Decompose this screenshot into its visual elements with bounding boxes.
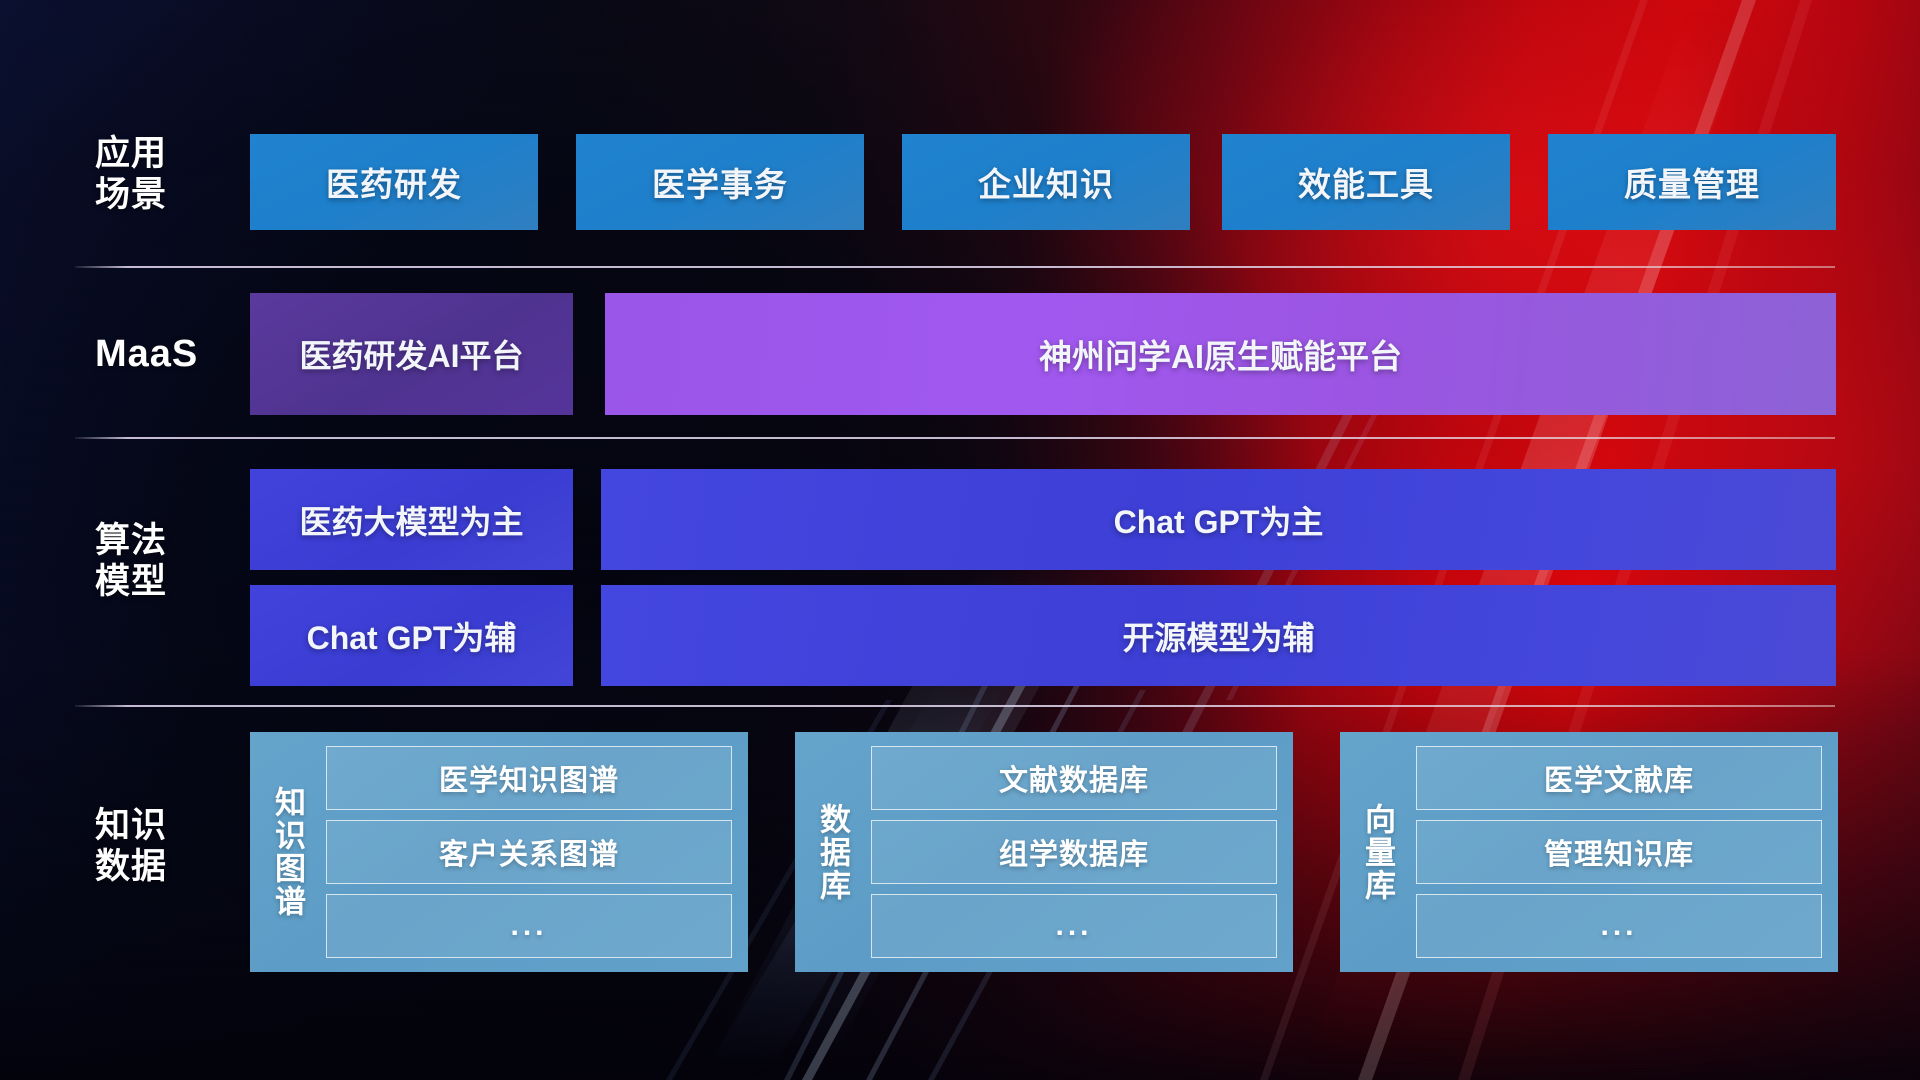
knowledge-group-items-database: 文献数据库 组学数据库 ... <box>871 746 1277 958</box>
app-scenario-box-5[interactable]: 质量管理 <box>1548 134 1836 230</box>
knowledge-item-more[interactable]: ... <box>326 894 732 958</box>
maas-platform-box-medical[interactable]: 医药研发AI平台 <box>250 293 573 415</box>
knowledge-group-label-graph: 知识图谱 <box>264 786 310 918</box>
knowledge-group-label-database: 数据库 <box>809 803 855 902</box>
algorithm-box-opensource-secondary[interactable]: 开源模型为辅 <box>601 585 1836 686</box>
knowledge-group-panel-database[interactable]: 数据库 文献数据库 组学数据库 ... <box>795 732 1293 972</box>
app-scenario-box-4[interactable]: 效能工具 <box>1222 134 1510 230</box>
knowledge-group-panel-vector[interactable]: 向量库 医学文献库 管理知识库 ... <box>1340 732 1838 972</box>
tier-label-application-scenarios: 应用 场景 <box>95 133 245 216</box>
tier-label-knowledge-data: 知识 数据 <box>95 805 245 888</box>
divider-1 <box>75 266 1835 268</box>
algorithm-box-chatgpt-secondary[interactable]: Chat GPT为辅 <box>250 585 573 686</box>
diagram-content: 应用 场景 医药研发 医学事务 企业知识 效能工具 质量管理 MaaS 医药研发… <box>0 0 1920 1080</box>
knowledge-item[interactable]: 组学数据库 <box>871 820 1277 884</box>
algorithm-box-medical-primary[interactable]: 医药大模型为主 <box>250 469 573 570</box>
algorithm-box-chatgpt-primary[interactable]: Chat GPT为主 <box>601 469 1836 570</box>
knowledge-item[interactable]: 客户关系图谱 <box>326 820 732 884</box>
divider-2 <box>75 437 1835 439</box>
knowledge-item[interactable]: 管理知识库 <box>1416 820 1822 884</box>
knowledge-item-more[interactable]: ... <box>1416 894 1822 958</box>
knowledge-group-label-vector: 向量库 <box>1354 803 1400 902</box>
knowledge-item-more[interactable]: ... <box>871 894 1277 958</box>
app-scenario-box-2[interactable]: 医学事务 <box>576 134 864 230</box>
knowledge-item[interactable]: 医学文献库 <box>1416 746 1822 810</box>
maas-platform-box-shenzhou[interactable]: 神州问学AI原生赋能平台 <box>605 293 1836 415</box>
knowledge-item[interactable]: 医学知识图谱 <box>326 746 732 810</box>
knowledge-item[interactable]: 文献数据库 <box>871 746 1277 810</box>
architecture-diagram: 应用 场景 医药研发 医学事务 企业知识 效能工具 质量管理 MaaS 医药研发… <box>0 0 1920 1080</box>
tier-label-maas: MaaS <box>95 332 265 377</box>
knowledge-group-items-vector: 医学文献库 管理知识库 ... <box>1416 746 1822 958</box>
knowledge-group-panel-graph[interactable]: 知识图谱 医学知识图谱 客户关系图谱 ... <box>250 732 748 972</box>
tier-label-algorithm-model: 算法 模型 <box>95 520 245 603</box>
app-scenario-box-1[interactable]: 医药研发 <box>250 134 538 230</box>
divider-3 <box>75 705 1835 707</box>
app-scenario-box-3[interactable]: 企业知识 <box>902 134 1190 230</box>
knowledge-group-items-graph: 医学知识图谱 客户关系图谱 ... <box>326 746 732 958</box>
